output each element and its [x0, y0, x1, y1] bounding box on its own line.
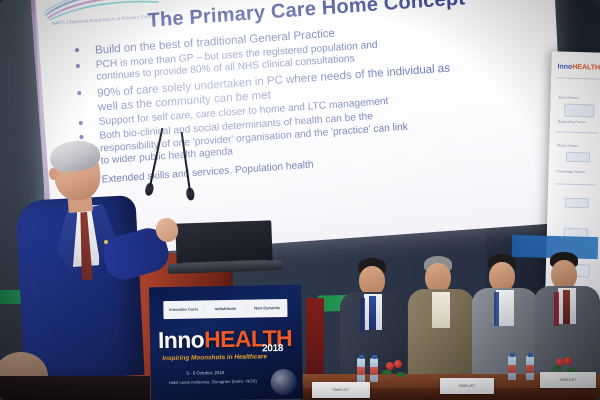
- bullet-dot-icon: [76, 64, 80, 68]
- bottle-label: [370, 367, 378, 375]
- podium-sponsor-strip: Innovatio Curis mdlattitude New Dynamic: [163, 299, 287, 319]
- speaker-lapel-pin: [104, 240, 108, 244]
- banner-partner-logo: [565, 198, 589, 209]
- name-placard: PANELIST: [540, 372, 596, 388]
- slide-bullet-list: Build on the best of traditional General…: [63, 12, 539, 191]
- sponsor-logo: mdlattitude: [205, 306, 247, 311]
- banner-logo-health: HEALTH: [572, 64, 600, 72]
- bottle-cap: [359, 355, 364, 359]
- water-bottle: [526, 356, 534, 380]
- name-placard: PANELIST: [440, 378, 494, 394]
- panelist-tie: [369, 296, 376, 330]
- banner-caption: Knowledge Partner: [557, 169, 586, 174]
- flower-leaf: [552, 366, 562, 371]
- flower-leaf: [396, 372, 406, 377]
- flower-petal: [564, 357, 572, 365]
- banner-logo-inno: Inno: [557, 63, 572, 70]
- bullet-dot-icon: [75, 48, 79, 52]
- panelist-lanyard: [494, 292, 499, 326]
- sponsor-name: New Dynamic: [247, 306, 288, 311]
- panelist-lanyard: [360, 298, 365, 332]
- sponsor-name: mdlattitude: [205, 306, 246, 311]
- event-logo-inno: Inno: [158, 326, 205, 353]
- sponsor-logo: Innovatio Curis: [163, 307, 205, 312]
- banner-caption: Supporting Partner: [558, 119, 587, 124]
- banner-caption: Media Partner: [557, 143, 578, 148]
- banner-logo: InnoHEALTH: [557, 63, 600, 71]
- panelist-lanyard: [554, 292, 559, 326]
- napc-logo: NAPC | National Association of Primary C…: [42, 0, 162, 35]
- flower-petal: [386, 362, 394, 370]
- bullet-dot-icon: [79, 121, 83, 125]
- flower-arrangement: [382, 360, 408, 384]
- sponsor-logo: New Dynamic: [247, 306, 288, 311]
- banner-caption: Event Partner: [559, 95, 580, 100]
- panelist-tie: [563, 290, 570, 324]
- water-bottle: [357, 358, 365, 382]
- banner-partner-logo: [566, 152, 590, 163]
- conference-photo: NAPC | National Association of Primary C…: [0, 0, 600, 400]
- water-bottle: [508, 356, 516, 380]
- banner-divider: [557, 77, 599, 79]
- bullet-dot-icon: [79, 135, 83, 139]
- foreground-shadow: [0, 376, 150, 400]
- event-tagline: Inspiring Moonshots in Healthcare: [162, 353, 268, 362]
- banner-divider: [556, 131, 598, 133]
- bottle-label: [508, 365, 516, 373]
- event-date: 5 - 6 October, 2018: [186, 370, 224, 376]
- panelist-shirt: [432, 292, 450, 328]
- bottle-cap: [372, 355, 377, 359]
- flower-petal: [394, 360, 402, 368]
- bottle-cap: [510, 353, 515, 357]
- flower-petal: [556, 358, 564, 366]
- bottle-cap: [528, 353, 533, 357]
- sponsor-name: Innovatio Curis: [163, 307, 204, 312]
- banner-partner-logo: [564, 104, 594, 118]
- banner-divider: [554, 183, 596, 185]
- event-venue: Hotel Leela Ambience, Gurugram (Delhi - …: [169, 378, 257, 385]
- decorative-orb: [270, 369, 296, 395]
- flower-leaf: [382, 370, 392, 375]
- bottle-label: [526, 365, 534, 373]
- name-placard: PANELIST: [312, 382, 370, 398]
- bottle-label: [357, 367, 365, 375]
- water-bottle: [370, 358, 378, 382]
- podium-branding-panel: Innovatio Curis mdlattitude New Dynamic …: [149, 285, 303, 400]
- bullet-dot-icon: [77, 91, 81, 95]
